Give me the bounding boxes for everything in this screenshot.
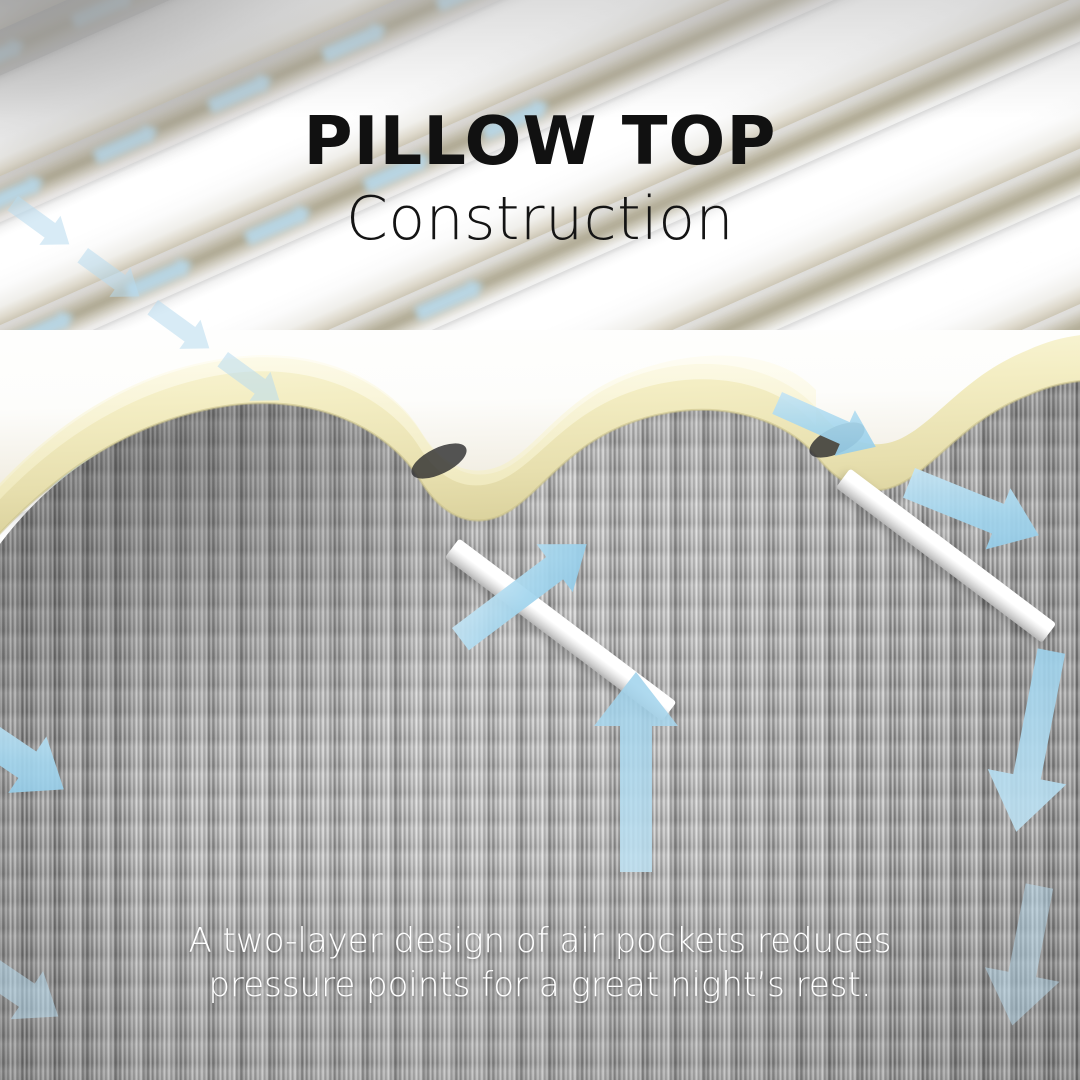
caption-line-2: pressure points for a great night’s rest… [0, 964, 1080, 1008]
page-title: PILLOW TOP [0, 108, 1080, 175]
page-subtitle: Construction [0, 189, 1080, 249]
pillow-top-illustration: PILLOW TOP Construction A two-layer desi… [0, 0, 1080, 1080]
title-block: PILLOW TOP Construction [0, 108, 1080, 249]
caption-line-1: A two-layer design of air pockets reduce… [0, 920, 1080, 964]
caption-block: A two-layer design of air pockets reduce… [0, 920, 1080, 1007]
